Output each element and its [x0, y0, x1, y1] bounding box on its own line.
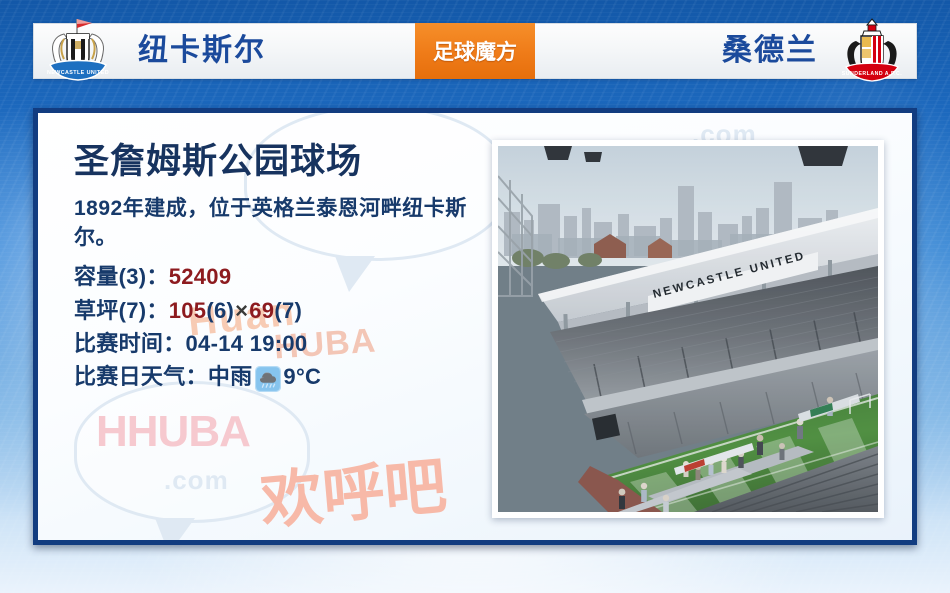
away-team-name: 桑德兰 [722, 36, 818, 66]
newcastle-united-crest-icon: NEWCASTLE UNITED [42, 15, 114, 87]
stadium-description: 1892年建成，位于英格兰泰恩河畔纽卡斯尔。 [74, 194, 494, 254]
pitch-width: 69 [249, 298, 274, 323]
svg-text:SUNDERLAND A.F.C.: SUNDERLAND A.F.C. [842, 71, 903, 77]
capacity-value: 52409 [169, 264, 232, 289]
site-logo[interactable]: 足球魔方 [415, 23, 535, 79]
pitch-length-rank: (6) [206, 298, 234, 323]
weather-row: 比赛日天气：中雨 [74, 360, 494, 393]
match-header-bar: NEWCASTLE UNITED 纽卡斯尔 足球魔方 桑德兰 [33, 23, 917, 79]
pitch-separator: × [234, 298, 249, 323]
pitch-label: 草坪(7)： [74, 298, 169, 323]
home-team-name: 纽卡斯尔 [138, 36, 266, 66]
weather-label: 比赛日天气： [74, 360, 208, 393]
content-panel: .com Huan HUBA HHUBA .com 欢呼吧 圣詹姆斯公园球场 1… [33, 108, 917, 545]
stadium-info-column: 圣詹姆斯公园球场 1892年建成，位于英格兰泰恩河畔纽卡斯尔。 容量(3)：52… [74, 143, 494, 394]
pitch-row: 草坪(7)：105(6)×69(7) [74, 294, 494, 327]
match-time-label: 比赛时间： [74, 331, 186, 356]
moderate-rain-icon [255, 366, 281, 392]
stadium-title: 圣詹姆斯公园球场 [74, 143, 494, 182]
weather-condition: 中雨 [208, 360, 253, 393]
weather-temperature: 9°C [283, 360, 321, 393]
sunderland-afc-crest-icon: SUNDERLAND A.F.C. [836, 15, 908, 87]
svg-text:NEWCASTLE UNITED: NEWCASTLE UNITED [47, 70, 109, 76]
site-logo-text: 足球魔方 [433, 36, 517, 66]
home-team-block[interactable]: NEWCASTLE UNITED 纽卡斯尔 [34, 24, 415, 78]
stadium-info-card: NEWCASTLE UNITED 纽卡斯尔 足球魔方 桑德兰 [0, 0, 950, 593]
st-james-park-photo: NEWCASTLE UNITED [498, 146, 878, 512]
pitch-width-rank: (7) [274, 298, 302, 323]
watermark-brand-cn: 欢呼吧 [256, 435, 449, 541]
pitch-length: 105 [169, 298, 207, 323]
watermark-hhuba: HHUBA [96, 407, 250, 457]
watermark-bubble-bottom [74, 381, 310, 523]
capacity-row: 容量(3)：52409 [74, 260, 494, 293]
stadium-photo-frame: NEWCASTLE UNITED [492, 140, 884, 518]
watermark-domain-bottom: .com [164, 465, 229, 496]
away-team-block[interactable]: 桑德兰 [535, 24, 916, 78]
capacity-label: 容量(3)： [74, 264, 169, 289]
match-time-row: 比赛时间：04-14 19:00 [74, 327, 494, 360]
match-time-value: 04-14 19:00 [186, 331, 308, 356]
